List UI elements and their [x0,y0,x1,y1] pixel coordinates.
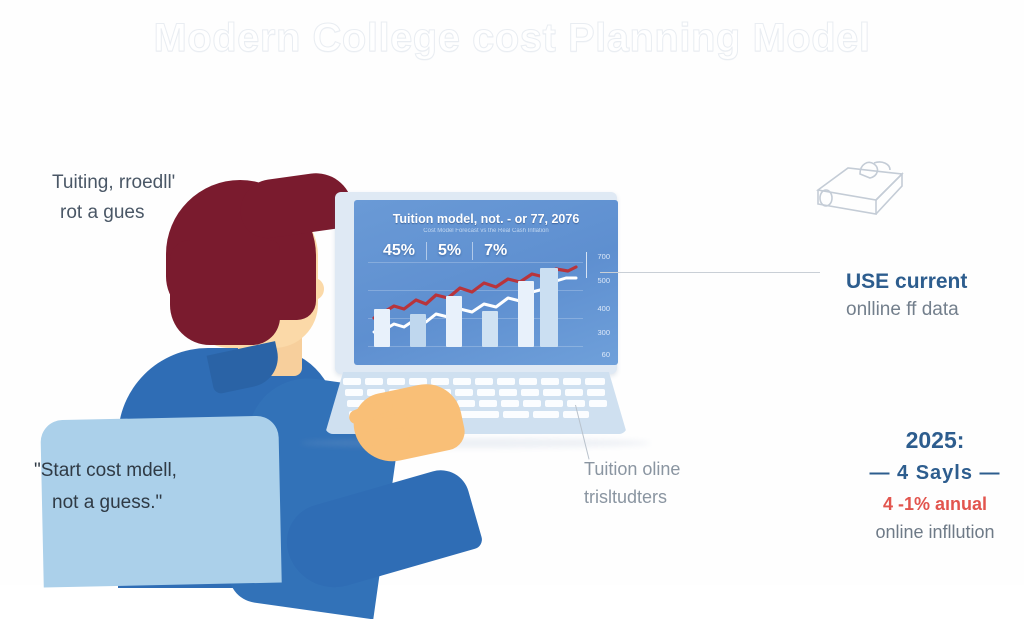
annotation-below-laptop: Tuition oline trisltudters [584,455,764,511]
annotation-year: 2025: [830,424,1024,456]
chart-ytick-60: 60 [602,350,610,359]
annotation-red-line: 4 -1% aınual [830,490,1024,518]
screen-stat-1: 5% [427,242,472,260]
chart-bar [410,314,426,347]
annotation-chair-quote: "Start cost mdell, not a guess." [34,455,284,519]
annotation-right-bottom: 2025: — 4 Sayls — 4 -1% aınual online in… [830,424,1024,546]
page-title: Modern College cost Planning Model [0,16,1024,61]
chair-quote-line2: not a guess." [34,487,284,519]
chart-bar [518,281,534,347]
screen-stat-row: 45% 5% 7% [372,242,518,260]
screen-chart-plot: 700 100 200 300 2000 [368,262,568,347]
chart-bar [374,309,390,347]
laptop-lid: Tuition model, not. - or 77, 2076 Cost M… [335,192,617,374]
annotation-right-top-subline: onlline ff data [846,296,1024,324]
annotation-divider-label: — 4 Sayls — [830,456,1024,490]
chart-ytick-700: 700 [597,252,610,261]
screen-stat-2: 7% [473,242,518,260]
annotation-right-top-headline: USE current [846,268,1024,296]
annotation-below-laptop-line2: trisltudters [584,483,764,511]
chair-quote-line1: "Start cost mdell, [34,455,284,487]
chart-ytick-300: 300 [597,328,610,337]
illustration-canvas: Modern College cost Planning Model Tuiti… [0,0,1024,585]
connector-line-to-right-note [600,272,820,273]
annotation-below-laptop-line1: Tuition oline [584,455,764,483]
chart-bar [482,311,498,347]
chart-axis-marker [586,252,587,278]
chart-ytick-500: 500 [597,276,610,285]
laptop-screen: Tuition model, not. - or 77, 2076 Cost M… [354,200,618,365]
annotation-right-top: USE current onlline ff data [846,268,1024,324]
screen-chart-subtitle: Cost Model Forecast vs the Real Cash Inf… [354,228,618,234]
screen-stat-0: 45% [372,242,426,260]
device-outline-icon [806,152,916,226]
chart-bar [540,268,558,347]
screen-chart-title: Tuition model, not. - or 77, 2076 [354,212,618,226]
annotation-gray-line: online infllution [830,518,1024,546]
person-hair-side [170,240,280,345]
chart-bar [446,296,462,347]
chart-ytick-400: 400 [597,304,610,313]
